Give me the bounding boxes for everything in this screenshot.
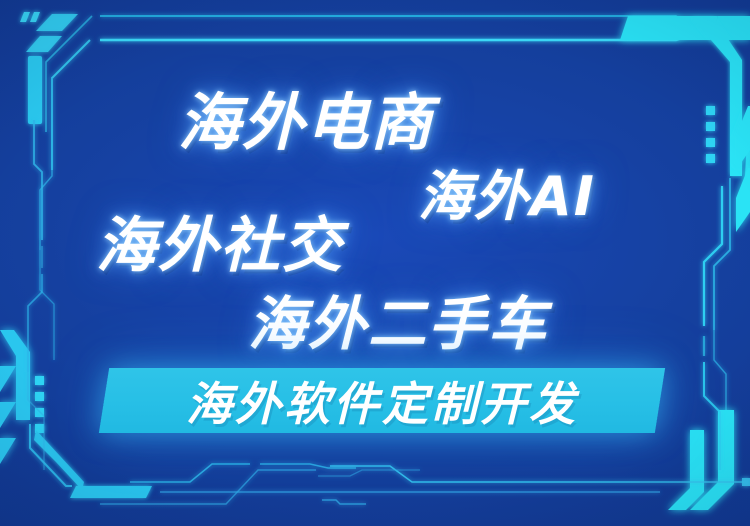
- keyword-ai: 海外AI: [418, 152, 596, 231]
- headline-banner-label: 海外软件定制开发: [104, 368, 660, 433]
- keyword-used-car: 海外二手车: [248, 277, 548, 361]
- poster-canvas: 海外电商 海外AI 海外社交 海外二手车 海外软件定制开发: [0, 0, 750, 526]
- keyword-text-group: 海外电商 海外AI 海外社交 海外二手车: [0, 0, 750, 526]
- keyword-social: 海外社交: [96, 197, 344, 284]
- keyword-ecommerce: 海外电商: [178, 72, 434, 162]
